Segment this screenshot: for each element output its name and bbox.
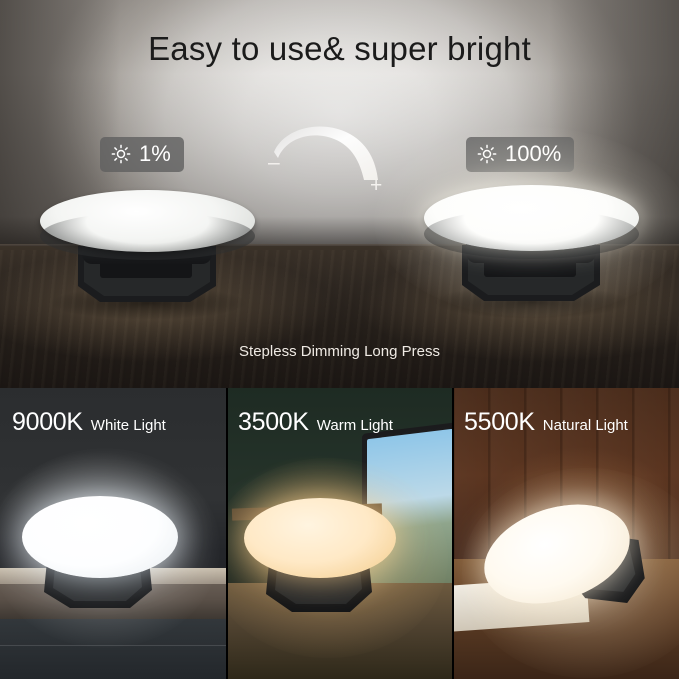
- brightness-badge-min-value: 1%: [139, 143, 171, 165]
- color-panel-natural: 5500K Natural Light: [452, 388, 679, 679]
- white-panel-name: White Light: [91, 417, 166, 434]
- warm-panel-kelvin: 3500K: [238, 408, 309, 437]
- natural-panel-name: Natural Light: [543, 417, 628, 434]
- warm-panel-label: 3500K Warm Light: [238, 408, 393, 437]
- white-lamp-panel: [22, 496, 178, 578]
- lamp-bright: [424, 185, 639, 317]
- top-scene: Easy to use& super bright – +: [0, 0, 679, 388]
- dimmer-minus-label: –: [268, 152, 280, 173]
- white-panel-kelvin: 9000K: [12, 408, 83, 437]
- natural-panel-label: 5500K Natural Light: [464, 408, 628, 437]
- warm-panel-name: Warm Light: [317, 417, 393, 434]
- white-panel-label: 9000K White Light: [12, 408, 166, 437]
- color-panel-warm: 3500K Warm Light: [226, 388, 452, 679]
- warm-lamp-panel: [244, 498, 396, 578]
- lamp-dim-panel-rim: [40, 212, 255, 260]
- page-title: Easy to use& super bright: [0, 30, 679, 68]
- brightness-icon: [111, 144, 131, 164]
- natural-panel-kelvin: 5500K: [464, 408, 535, 437]
- lamp-dim: [40, 190, 255, 315]
- product-infographic: Easy to use& super bright – +: [0, 0, 679, 679]
- panel-divider: [452, 388, 454, 679]
- color-panel-white: 9000K White Light: [0, 388, 226, 679]
- lamp-bright-panel-rim: [424, 209, 639, 259]
- panel-divider: [226, 388, 228, 679]
- brightness-badge-min: 1%: [100, 137, 184, 172]
- dimming-caption: Stepless Dimming Long Press: [0, 343, 679, 360]
- color-temperature-row: 9000K White Light 3500K Warm Light: [0, 388, 679, 679]
